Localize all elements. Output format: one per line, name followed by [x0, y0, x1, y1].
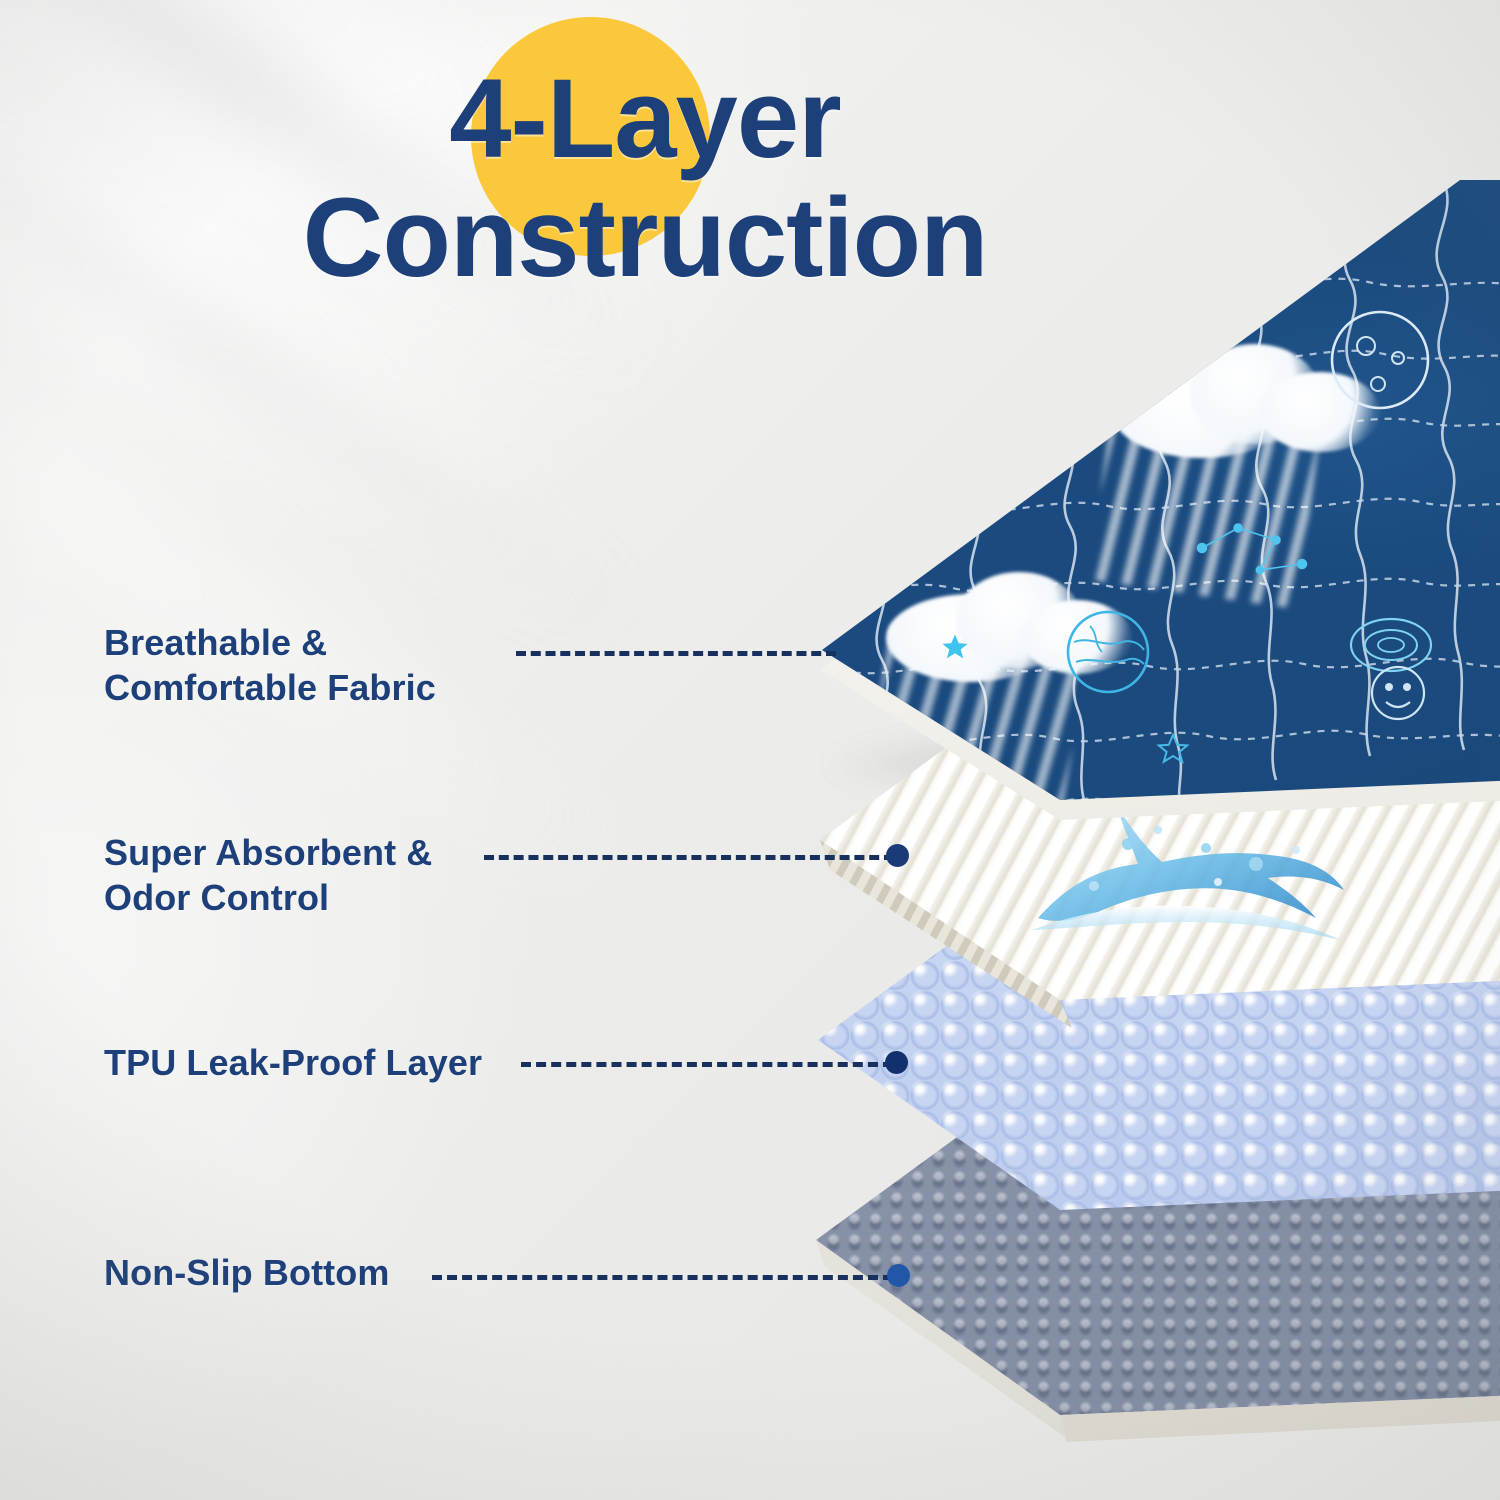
- label-breathable-fabric: Breathable & Comfortable Fabric: [104, 620, 436, 711]
- leader-line-non-slip: [432, 1275, 893, 1280]
- page-title: 4-Layer Construction: [80, 60, 1210, 297]
- leader-line-fabric: [516, 651, 836, 656]
- leader-dot-tpu: [885, 1051, 908, 1074]
- leader-dot-non-slip: [887, 1264, 910, 1287]
- title-line-1: 4-Layer: [80, 60, 1210, 179]
- label-non-slip-bottom: Non-Slip Bottom: [104, 1250, 389, 1295]
- leader-line-tpu: [521, 1062, 893, 1067]
- leader-dot-absorbent: [886, 844, 909, 867]
- label-tpu-leak-proof: TPU Leak-Proof Layer: [104, 1040, 482, 1085]
- title-line-2: Construction: [80, 179, 1210, 298]
- leader-line-absorbent: [484, 855, 894, 860]
- infographic-canvas: 4-Layer Construction: [0, 0, 1500, 1500]
- label-super-absorbent: Super Absorbent & Odor Control: [104, 830, 432, 921]
